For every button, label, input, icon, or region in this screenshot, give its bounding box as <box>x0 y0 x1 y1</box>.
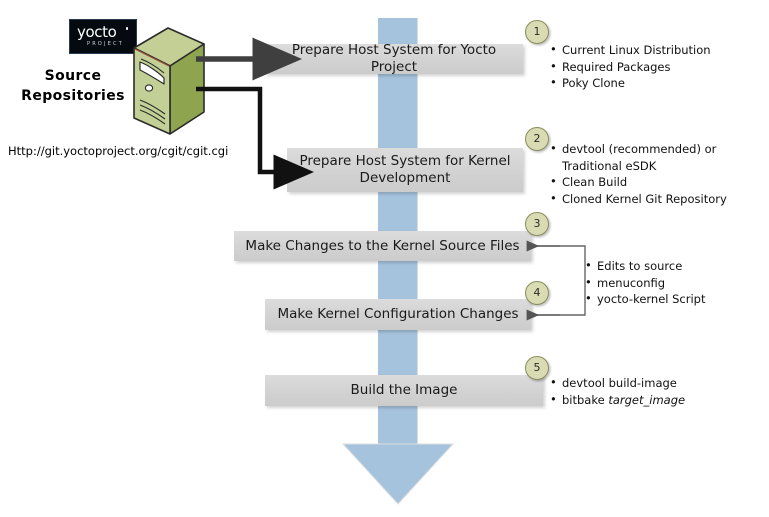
notes-step-2: devtool (recommended) or Traditional eSD… <box>550 141 727 207</box>
source-repository-url: Http://git.yoctoproject.org/cgit/cgit.cg… <box>8 144 228 158</box>
logo-wordmark: yocto <box>77 25 116 40</box>
note-item: Edits to source <box>585 258 706 275</box>
note-bitbake-prefix: bitbake <box>562 393 608 407</box>
step-circle-1: 1 <box>525 20 549 44</box>
note-item-bitbake: bitbake target_image <box>550 392 685 409</box>
process-box-step-3-label: Make Changes to the Kernel Source Files <box>245 238 519 255</box>
step-circle-2: 2 <box>525 127 549 151</box>
source-label-line1: Source <box>18 66 128 86</box>
process-box-step-3[interactable]: Make Changes to the Kernel Source Files <box>234 231 531 261</box>
notes-steps-3-and-4: Edits to source menuconfig yocto-kernel … <box>585 258 706 308</box>
diagram-canvas: yocto PROJECT Source Repositories <box>0 0 769 517</box>
note-item: yocto-kernel Script <box>585 291 706 308</box>
process-box-step-4[interactable]: Make Kernel Configuration Changes <box>265 299 531 330</box>
note-item: devtool (recommended) or Traditional eSD… <box>550 141 722 174</box>
source-label-line2: Repositories <box>18 86 128 106</box>
process-box-step-5-label: Build the Image <box>351 382 458 399</box>
flow-spine-segment-3-4 <box>378 261 418 299</box>
step-circle-5: 5 <box>525 356 549 380</box>
note-item: Required Packages <box>550 59 711 76</box>
process-box-step-2-label: Prepare Host System for Kernel Developme… <box>295 153 515 187</box>
yocto-project-logo: yocto PROJECT <box>69 19 137 54</box>
note-bitbake-target: target_image <box>608 393 685 407</box>
step-circle-4: 4 <box>525 281 549 305</box>
note-item: menuconfig <box>585 275 706 292</box>
process-box-step-5[interactable]: Build the Image <box>265 375 543 406</box>
server-tower-icon <box>128 26 208 138</box>
note-item: devtool build-image <box>550 375 685 392</box>
flow-spine-segment-2-3 <box>378 192 418 231</box>
flow-spine-segment-1-2 <box>378 74 418 148</box>
flow-spine-segment-top <box>378 18 418 45</box>
source-repositories-label: Source Repositories <box>18 66 128 106</box>
process-box-step-4-label: Make Kernel Configuration Changes <box>277 306 518 323</box>
process-box-step-1-label: Prepare Host System for Yocto Project <box>273 42 515 76</box>
notes-step-5: devtool build-image bitbake target_image <box>550 375 685 408</box>
notes-step-1: Current Linux Distribution Required Pack… <box>550 42 711 92</box>
flow-spine-segment-bottom <box>378 405 418 444</box>
logo-subtext: PROJECT <box>87 41 124 47</box>
step-circle-3: 3 <box>525 212 549 236</box>
process-box-step-2[interactable]: Prepare Host System for Kernel Developme… <box>287 148 523 192</box>
note-item: Clean Build <box>550 174 727 191</box>
note-item: Cloned Kernel Git Repository <box>550 191 727 208</box>
note-item: Poky Clone <box>550 75 711 92</box>
note-item: Current Linux Distribution <box>550 42 711 59</box>
flow-spine-segment-4-5 <box>378 330 418 375</box>
process-box-step-1[interactable]: Prepare Host System for Yocto Project <box>265 44 523 74</box>
